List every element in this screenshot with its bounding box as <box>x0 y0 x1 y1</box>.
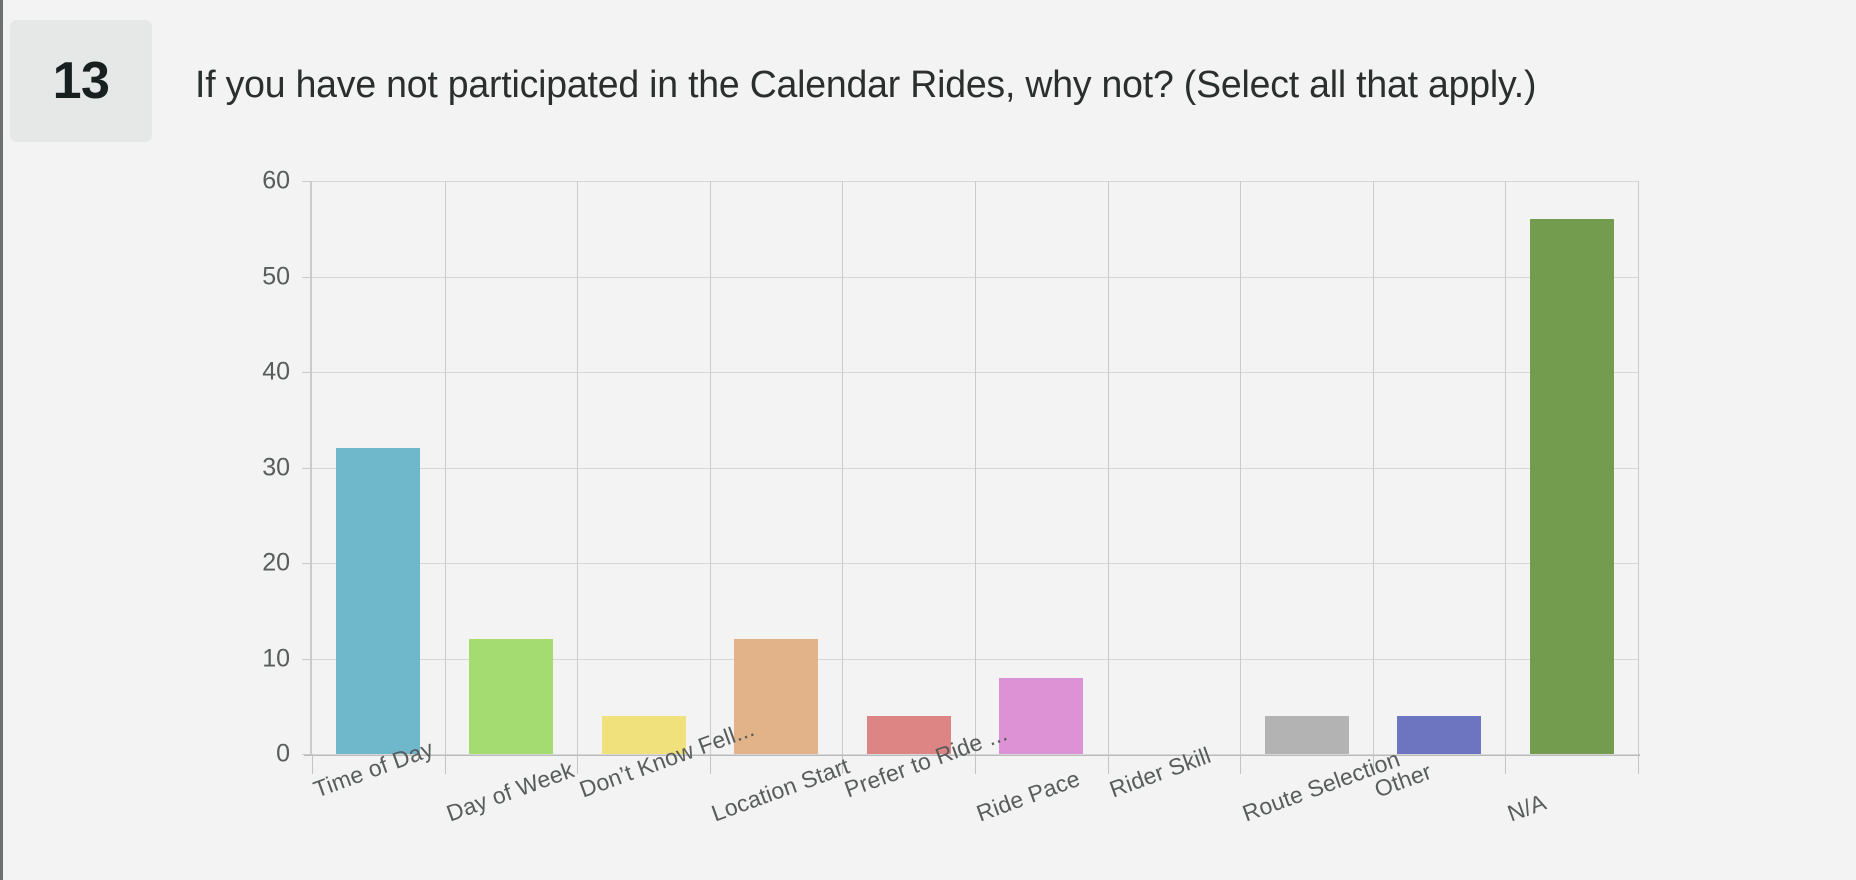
gridline-vertical <box>1240 181 1241 754</box>
bar-n-a[interactable] <box>1530 219 1614 754</box>
gridline-vertical <box>710 181 711 754</box>
bar-route-selection[interactable] <box>1265 716 1349 754</box>
y-tick-label: 50 <box>262 262 290 291</box>
x-tick-label: Day of Week <box>443 756 578 827</box>
y-tick-mark <box>302 659 312 660</box>
survey-question-panel: 13 If you have not participated in the C… <box>0 0 1856 880</box>
y-tick-mark <box>302 754 312 755</box>
bar-other[interactable] <box>1397 716 1481 754</box>
x-tick-label: N/A <box>1504 789 1550 828</box>
gridline-vertical <box>1108 181 1109 754</box>
gridline-vertical <box>975 181 976 754</box>
bar-ride-pace[interactable] <box>999 678 1083 754</box>
bar-chart: 0102030405060 Time of DayDay of WeekDon’… <box>0 140 1856 880</box>
y-axis-labels: 0102030405060 <box>228 181 290 754</box>
y-tick-mark <box>302 181 312 182</box>
gridline-vertical <box>577 181 578 754</box>
question-header: 13 If you have not participated in the C… <box>10 20 1846 135</box>
y-tick-mark <box>302 372 312 373</box>
question-number: 13 <box>53 55 110 107</box>
y-tick-label: 10 <box>262 644 290 673</box>
gridline-vertical <box>445 181 446 754</box>
y-tick-label: 40 <box>262 358 290 387</box>
gridline-vertical <box>1373 181 1374 754</box>
question-number-badge: 13 <box>10 20 152 142</box>
bar-time-of-day[interactable] <box>336 448 420 754</box>
x-tick-label: Ride Pace <box>973 765 1084 827</box>
gridline-vertical <box>1505 181 1506 754</box>
gridline-vertical <box>1638 181 1639 754</box>
x-tick-label: Location Start <box>708 752 853 827</box>
x-axis-labels: Time of DayDay of WeekDon’t Know Fell...… <box>310 760 1710 880</box>
y-tick-label: 60 <box>262 167 290 196</box>
gridline-vertical <box>842 181 843 754</box>
y-tick-mark <box>302 277 312 278</box>
y-tick-mark <box>302 468 312 469</box>
plot-area <box>310 181 1636 754</box>
y-tick-label: 30 <box>262 453 290 482</box>
y-tick-mark <box>302 563 312 564</box>
y-tick-label: 20 <box>262 549 290 578</box>
bar-day-of-week[interactable] <box>469 639 553 754</box>
page-title: If you have not participated in the Cale… <box>195 64 1536 107</box>
y-tick-label: 0 <box>276 740 290 769</box>
